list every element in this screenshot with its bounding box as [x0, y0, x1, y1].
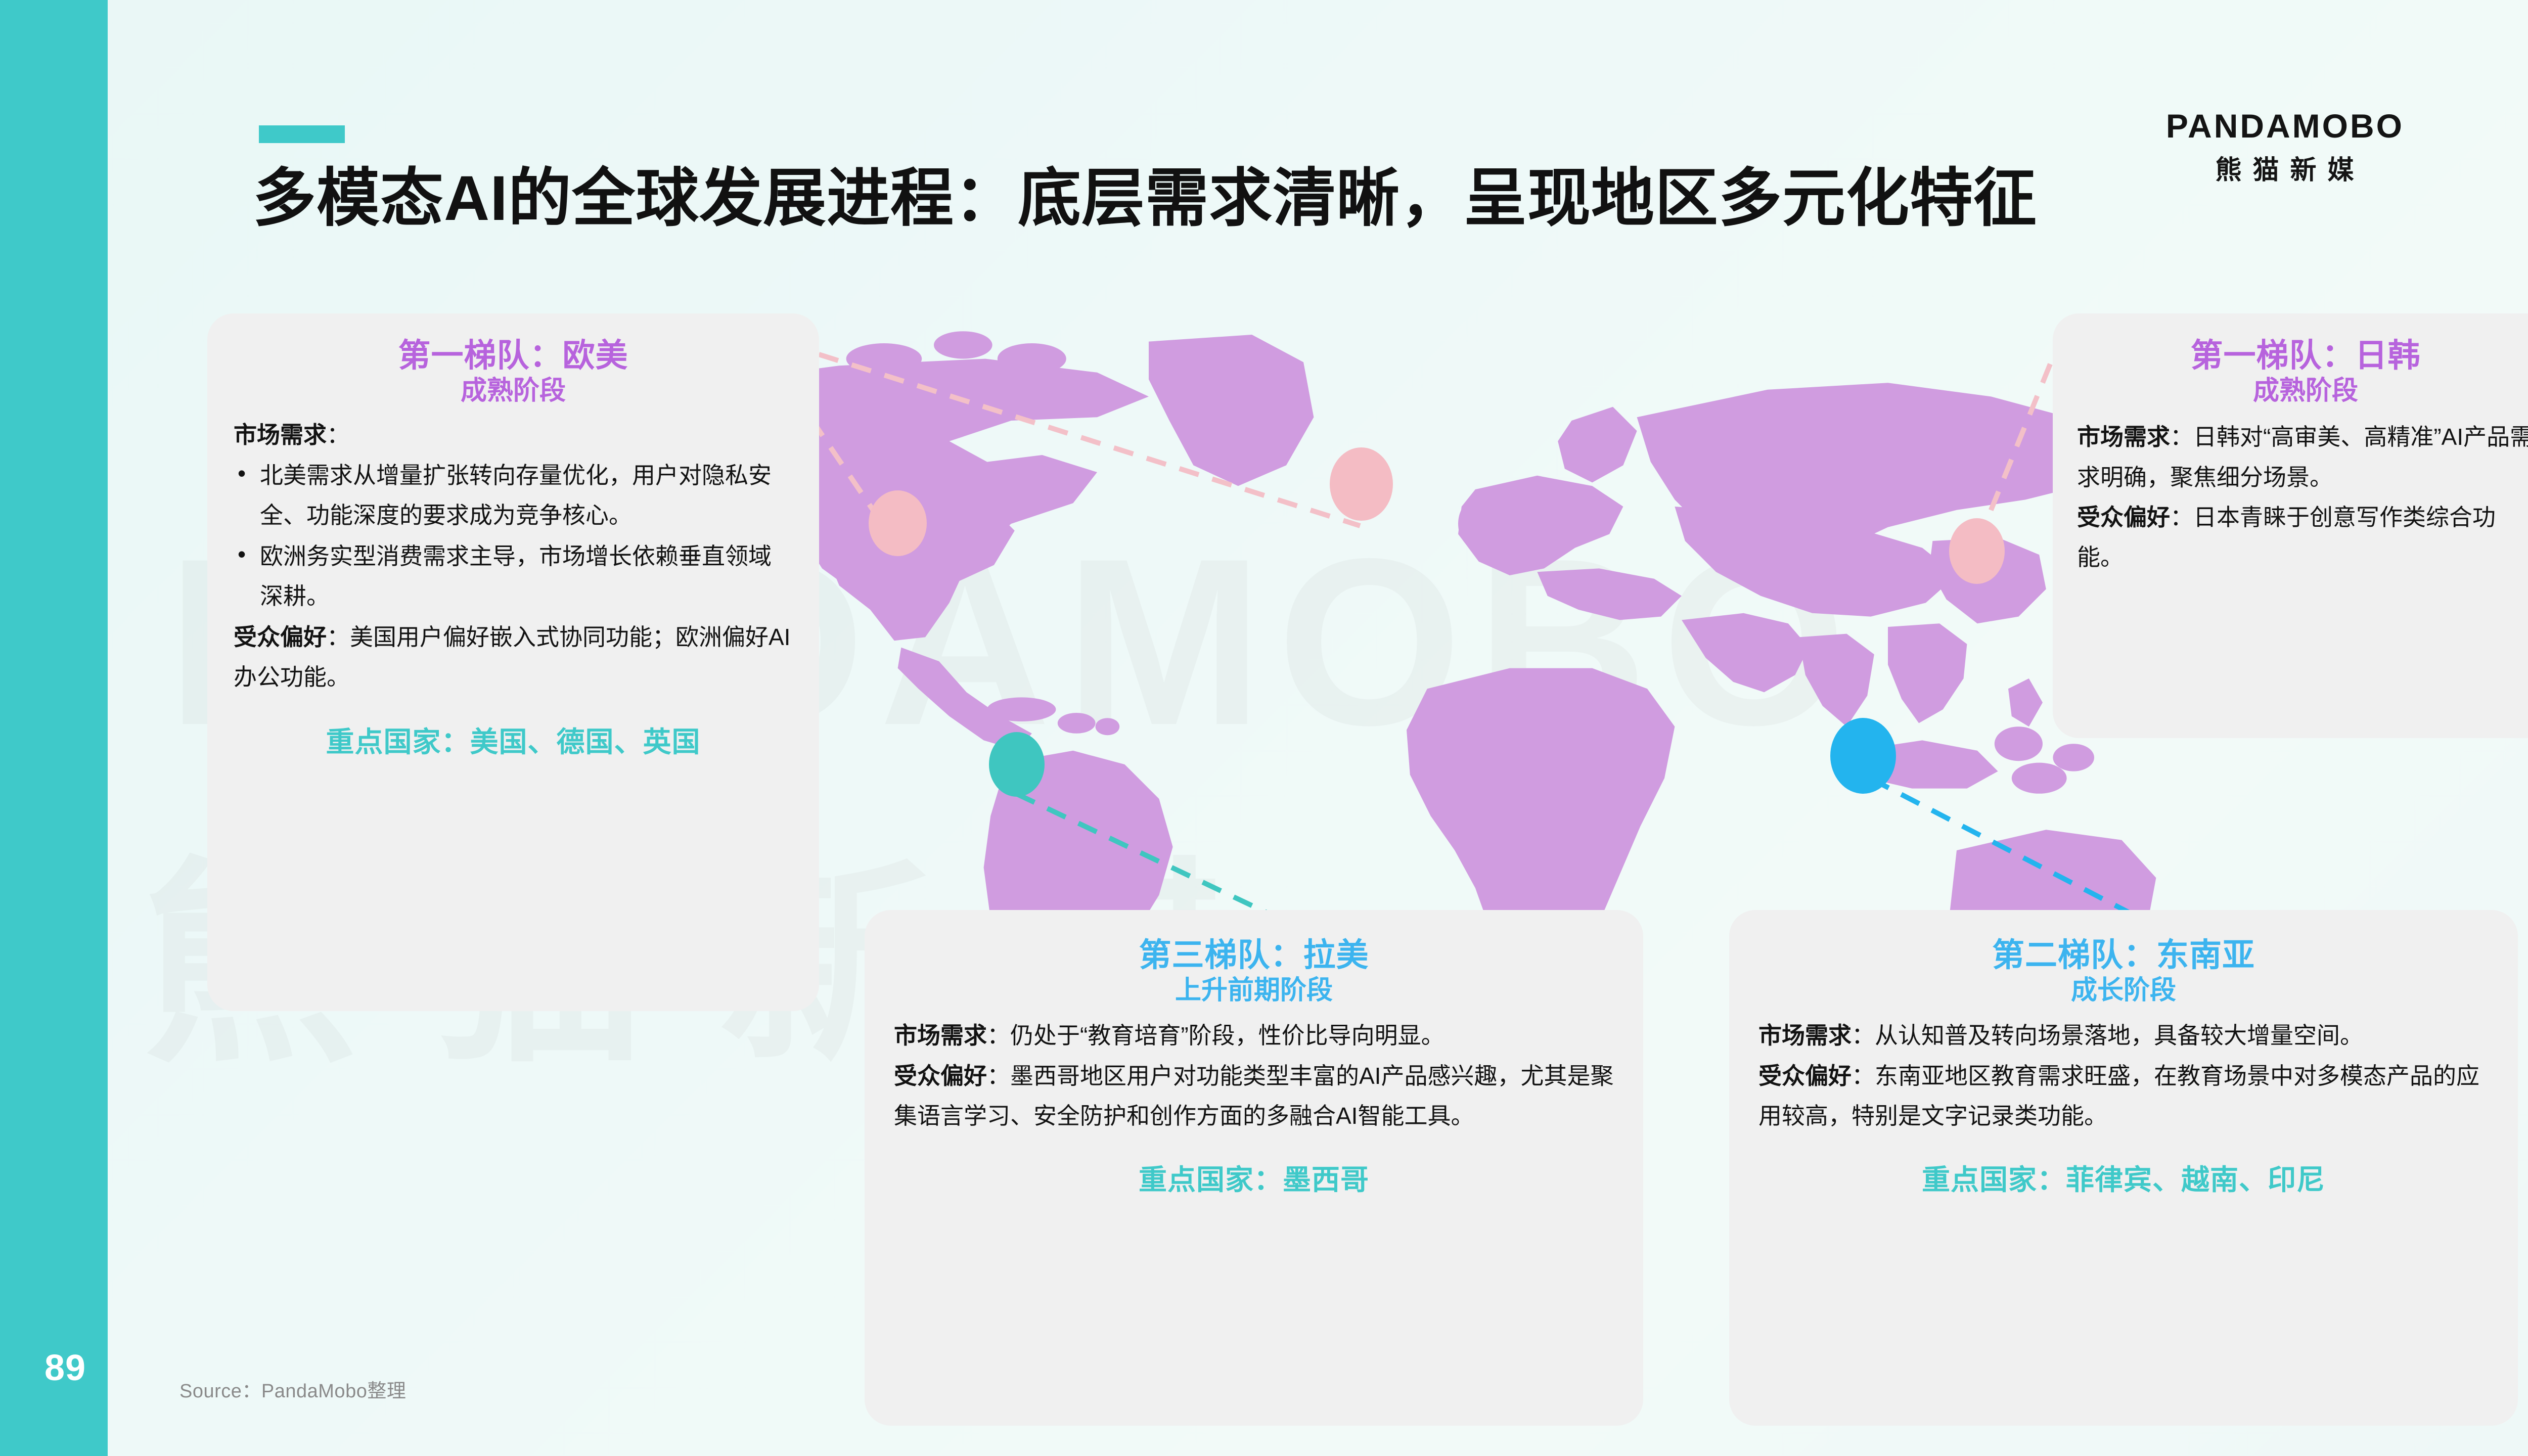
- logo-text-en: PANDAMOBO: [2166, 109, 2404, 144]
- demand-paragraph: 市场需求：日韩对“高审美、高精准”AI产品需求明确，聚焦细分场景。: [2077, 417, 2528, 497]
- card-subtitle: 成熟阶段: [2077, 376, 2528, 406]
- preference-text: ：墨西哥地区用户对功能类型丰富的AI产品感兴趣，尤其是聚集语言学习、安全防护和创…: [894, 1063, 1613, 1129]
- page-number: 89: [44, 1347, 86, 1389]
- demand-text: ：仍处于“教育培育”阶段，性价比导向明显。: [987, 1022, 1444, 1049]
- preference-paragraph: 受众偏好：墨西哥地区用户对功能类型丰富的AI产品感兴趣，尤其是聚集语言学习、安全…: [894, 1056, 1614, 1136]
- card-body: 市场需求：日韩对“高审美、高精准”AI产品需求明确，聚焦细分场景。 受众偏好：日…: [2077, 417, 2528, 577]
- europe-marker[interactable]: [1330, 447, 1393, 521]
- key-countries: 重点国家：美国、德国、英国: [234, 719, 793, 760]
- card-tier3-latam[interactable]: 第三梯队：拉美 上升前期阶段 市场需求：仍处于“教育培育”阶段，性价比导向明显。…: [865, 910, 1643, 1426]
- card-header: 第三梯队：拉美 上升前期阶段: [894, 937, 1614, 1006]
- card-body: 市场需求：从认知普及转向场景落地，具备较大增量空间。 受众偏好：东南亚地区教育需…: [1758, 1016, 2489, 1135]
- south-america-marker[interactable]: [989, 732, 1045, 797]
- key-countries: 重点国家：菲律宾、越南、印尼: [1758, 1157, 2489, 1198]
- card-tier1-europe-us[interactable]: 第一梯队：欧美 成熟阶段 市场需求： 北美需求从增量扩张转向存量优化，用户对隐私…: [207, 313, 819, 1011]
- preference-text: ：东南亚地区教育需求旺盛，在教育场景中对多模态产品的应用较高，特别是文字记录类功…: [1758, 1063, 2479, 1129]
- key-countries: 重点国家：墨西哥: [894, 1157, 1614, 1198]
- card-subtitle: 成长阶段: [1758, 976, 2489, 1006]
- preference-paragraph: 受众偏好：东南亚地区教育需求旺盛，在教育场景中对多模态产品的应用较高，特别是文字…: [1758, 1056, 2489, 1136]
- demand-label: 市场需求: [894, 1022, 987, 1049]
- card-header: 第一梯队：欧美 成熟阶段: [234, 338, 793, 406]
- card-subtitle: 成熟阶段: [234, 376, 793, 406]
- card-tier2-southeast-asia[interactable]: 第二梯队：东南亚 成长阶段 市场需求：从认知普及转向场景落地，具备较大增量空间。…: [1729, 910, 2518, 1426]
- demand-label: 市场需求: [234, 422, 327, 448]
- card-body: 市场需求：仍处于“教育培育”阶段，性价比导向明显。 受众偏好：墨西哥地区用户对功…: [894, 1016, 1614, 1135]
- japan-korea-marker[interactable]: [1949, 518, 2005, 584]
- card-header: 第二梯队：东南亚 成长阶段: [1758, 937, 2489, 1006]
- card-title: 第一梯队：日韩: [2077, 338, 2528, 374]
- card-subtitle: 上升前期阶段: [894, 976, 1614, 1006]
- left-accent-bar: [0, 0, 108, 1456]
- card-header: 第一梯队：日韩 成熟阶段: [2077, 338, 2528, 406]
- demand-paragraph: 市场需求：从认知普及转向场景落地，具备较大增量空间。: [1758, 1016, 2489, 1056]
- demand-paragraph: 市场需求：仍处于“教育培育”阶段，性价比导向明显。: [894, 1016, 1614, 1056]
- page-title: 多模态AI的全球发展进程：底层需求清晰，呈现地区多元化特征: [253, 167, 2037, 230]
- card-title: 第一梯队：欧美: [234, 338, 793, 374]
- brand-logo: PANDAMOBO 熊猫新媒: [2166, 109, 2404, 187]
- demand-bullet-list: 北美需求从增量扩张转向存量优化，用户对隐私安全、功能深度的要求成为竞争核心。 欧…: [234, 456, 793, 616]
- preference-paragraph: 受众偏好：美国用户偏好嵌入式协同功能；欧洲偏好AI办公功能。: [234, 617, 793, 697]
- source-note: Source：PandaMobo整理: [179, 1375, 406, 1403]
- demand-label: 市场需求: [2077, 424, 2170, 450]
- card-title: 第三梯队：拉美: [894, 937, 1614, 974]
- preference-label: 受众偏好: [2077, 504, 2170, 530]
- list-item: 北美需求从增量扩张转向存量优化，用户对隐私安全、功能深度的要求成为竞争核心。: [234, 456, 793, 535]
- card-tier1-japan-korea[interactable]: 第一梯队：日韩 成熟阶段 市场需求：日韩对“高审美、高精准”AI产品需求明确，聚…: [2053, 313, 2528, 738]
- list-item: 欧洲务实型消费需求主导，市场增长依赖垂直领域深耕。: [234, 536, 793, 616]
- north-america-marker[interactable]: [869, 490, 927, 556]
- southeast-asia-marker[interactable]: [1830, 718, 1896, 794]
- demand-text: ：从认知普及转向场景落地，具备较大增量空间。: [1852, 1022, 2363, 1049]
- preference-label: 受众偏好: [894, 1063, 987, 1089]
- preference-label: 受众偏好: [1758, 1063, 1852, 1089]
- demand-heading: 市场需求：: [234, 415, 793, 455]
- card-body: 市场需求： 北美需求从增量扩张转向存量优化，用户对隐私安全、功能深度的要求成为竞…: [234, 415, 793, 697]
- logo-text-cn: 熊猫新媒: [2176, 149, 2404, 187]
- title-accent-dash: [259, 125, 345, 143]
- demand-label: 市场需求: [1758, 1022, 1852, 1049]
- card-title: 第二梯队：东南亚: [1758, 937, 2489, 974]
- preference-paragraph: 受众偏好：日本青睐于创意写作类综合功能。: [2077, 497, 2528, 577]
- slide-canvas: PANDAMOBO 熊猫新媒: [0, 0, 2528, 1456]
- preference-label: 受众偏好: [234, 624, 327, 650]
- demand-colon: ：: [327, 422, 350, 448]
